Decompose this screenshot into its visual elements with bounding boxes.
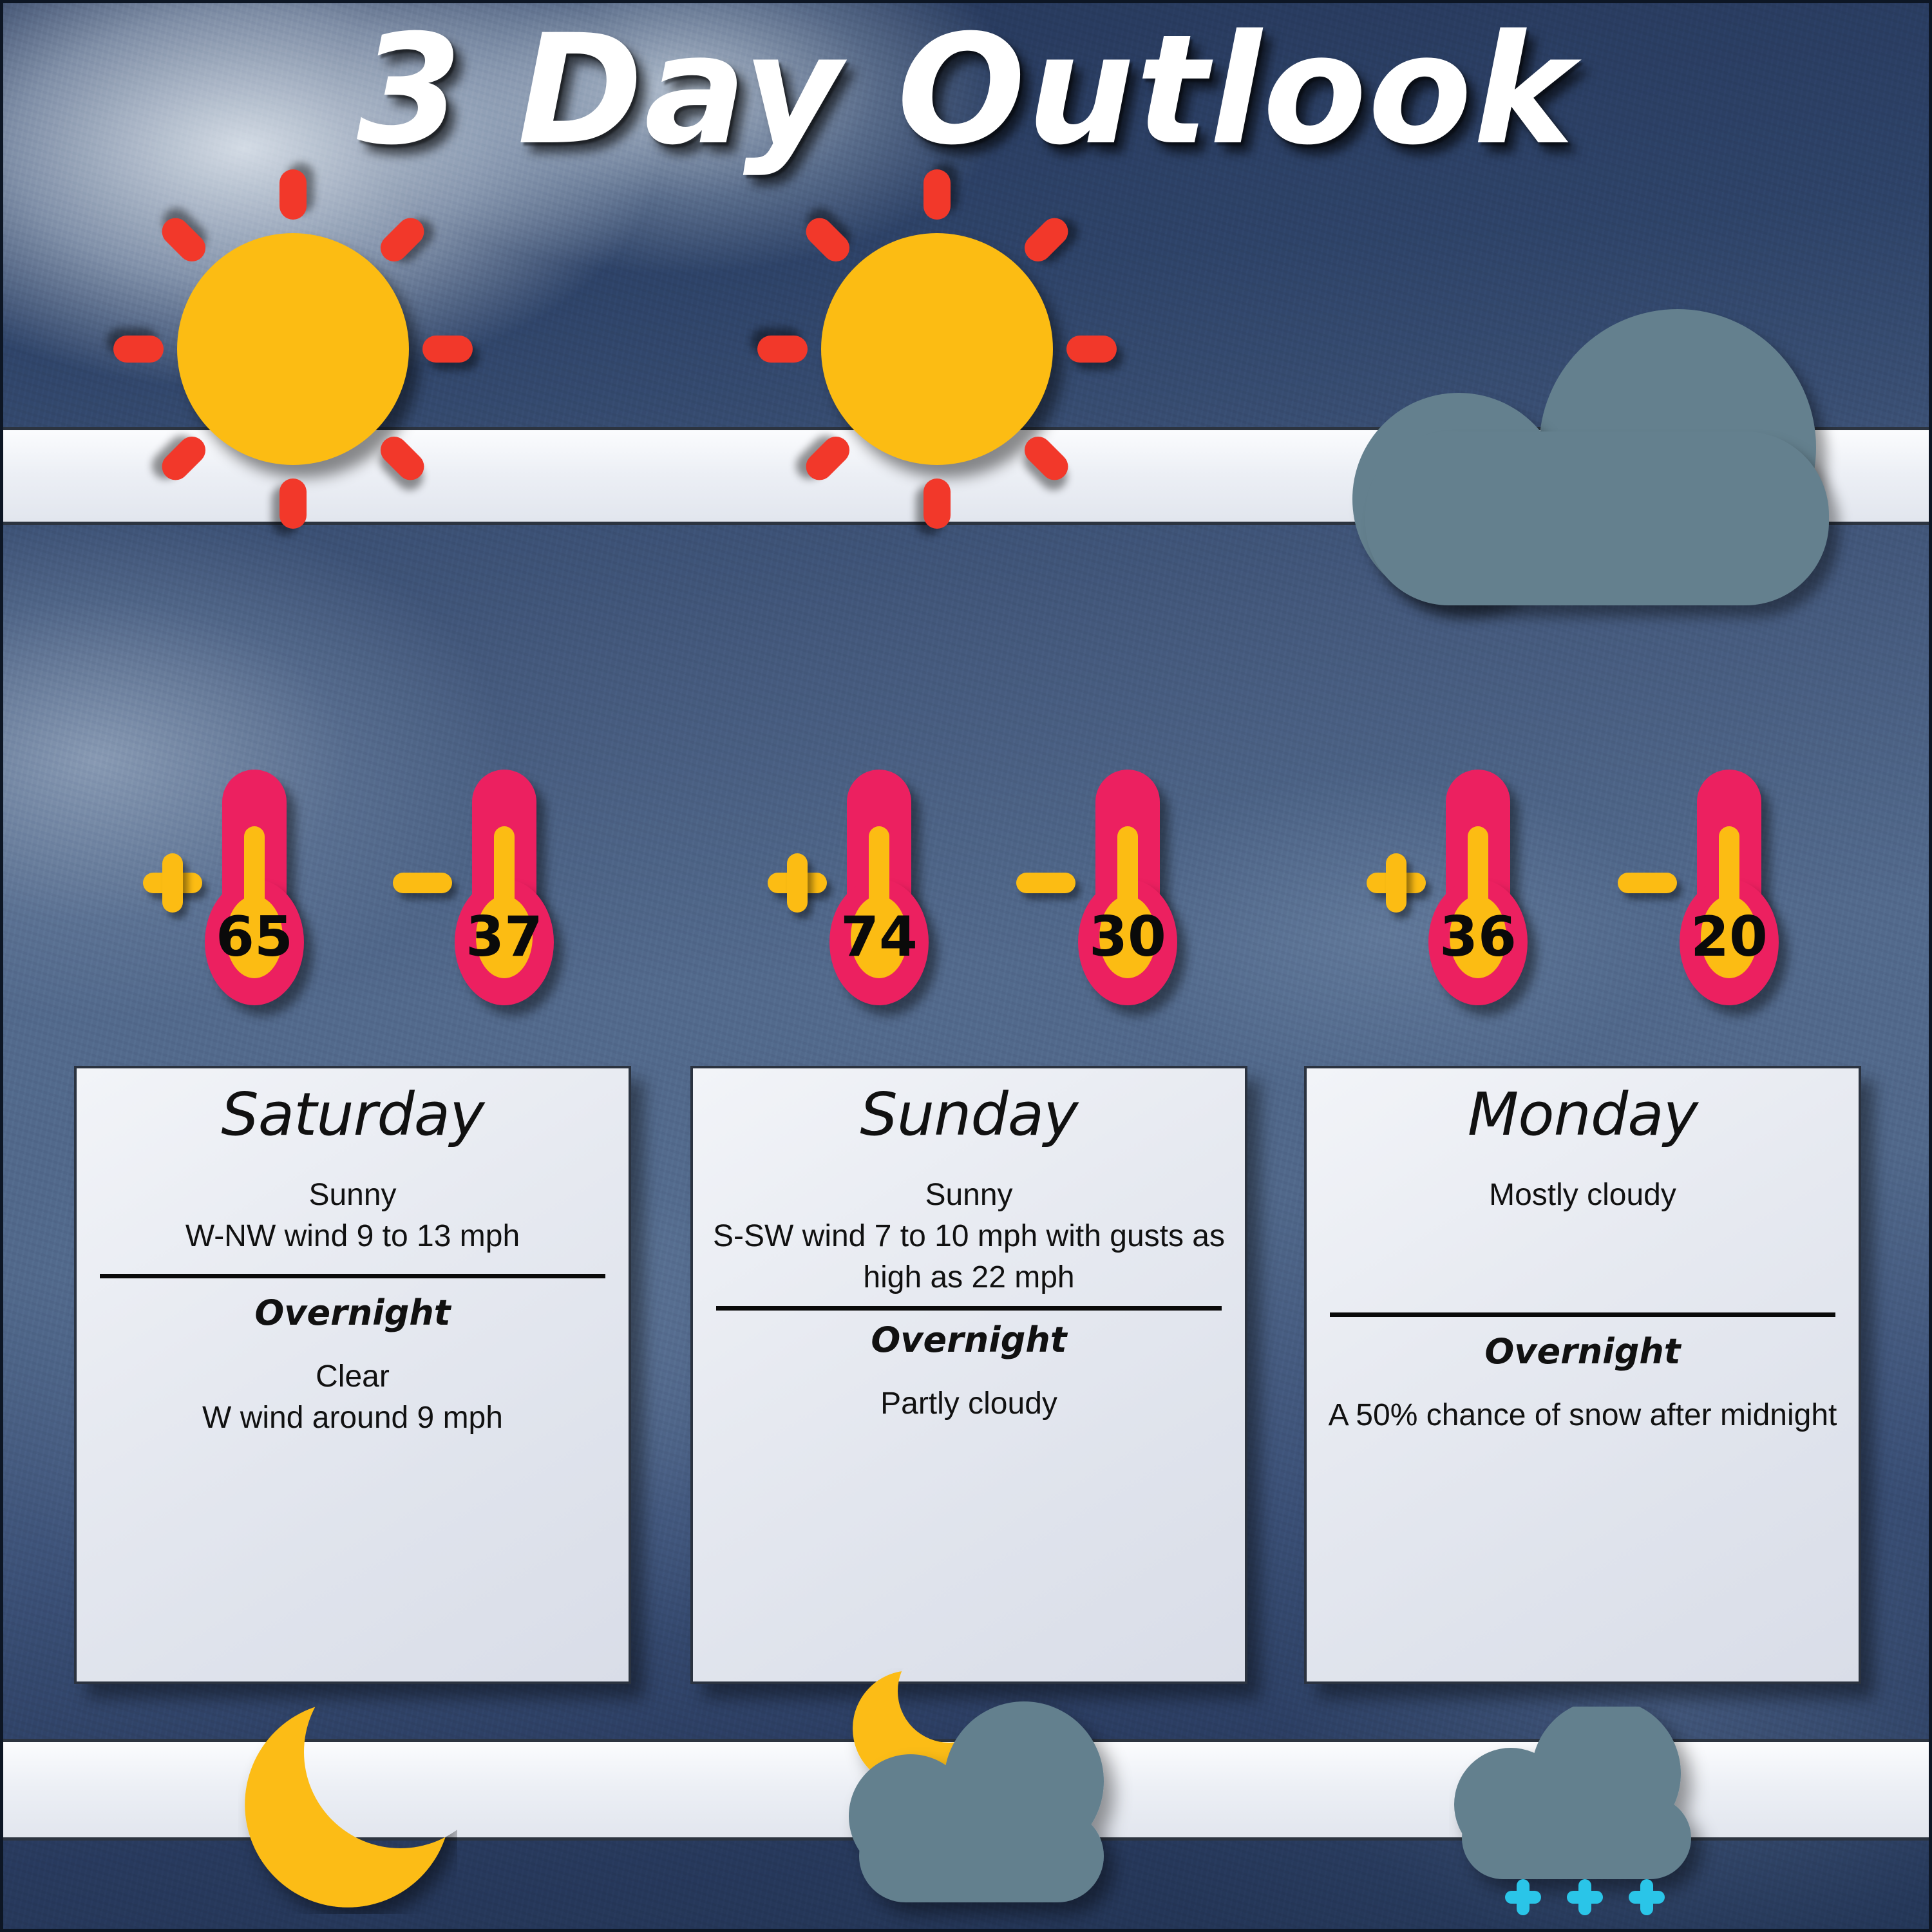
sun-ray — [156, 431, 211, 486]
sun-ray — [757, 336, 808, 363]
cloud-icon — [1327, 309, 1868, 631]
overnight-desc-line1: Partly cloudy — [712, 1383, 1226, 1425]
moon-crescent-shape — [238, 1695, 457, 1914]
low-temp-value: 20 — [1662, 896, 1797, 978]
forecast-card-saturday[interactable]: Saturday Sunny W-NW wind 9 to 13 mph Ove… — [74, 1066, 631, 1684]
weather-outlook-graphic: 3 Day Outlook 65 — [0, 0, 1932, 1932]
card-divider — [100, 1274, 605, 1278]
sun-ray — [923, 169, 951, 220]
card-divider — [1330, 1312, 1835, 1317]
day-desc-line1: Sunny — [96, 1175, 609, 1216]
sun-ray — [422, 336, 473, 363]
forecast-card-monday[interactable]: Monday Mostly cloudy Overnight A 50% cha… — [1304, 1066, 1861, 1684]
overnight-desc-line1: A 50% chance of snow after midnight — [1326, 1395, 1839, 1436]
moon-cloud-shape — [831, 1668, 1172, 1932]
snowflake-icon — [1567, 1879, 1603, 1915]
sun-ray — [1019, 431, 1074, 486]
sun-ray — [1019, 213, 1074, 267]
sun-ray — [113, 336, 164, 363]
day-name: Sunday — [712, 1080, 1226, 1150]
high-temp-value: 65 — [187, 896, 322, 978]
forecast-card-sunday[interactable]: Sunday Sunny S-SW wind 7 to 10 mph with … — [690, 1066, 1247, 1684]
overnight-label: Overnight — [96, 1293, 609, 1334]
sun-ray — [1066, 336, 1117, 363]
overnight-desc-line1: Clear — [96, 1356, 609, 1397]
card-divider — [716, 1306, 1222, 1311]
high-temp-value: 36 — [1410, 896, 1546, 978]
page-title: 3 Day Outlook — [0, 12, 1932, 171]
sun-ray — [923, 478, 951, 529]
sun-icon — [119, 175, 467, 523]
day-name: Saturday — [96, 1080, 609, 1150]
snowflake-icon — [1505, 1879, 1541, 1915]
sun-disc — [177, 233, 409, 465]
thermometer-low: 20 — [1662, 770, 1797, 1021]
sun-ray — [800, 213, 855, 267]
overnight-label: Overnight — [712, 1320, 1226, 1361]
overnight-desc-line2: W wind around 9 mph — [96, 1397, 609, 1439]
day-desc-line2: W-NW wind 9 to 13 mph — [96, 1216, 609, 1257]
thermometer-high: 74 — [811, 770, 947, 1021]
low-temp-value: 30 — [1060, 896, 1195, 978]
sun-ray — [375, 213, 430, 267]
moon-icon — [238, 1695, 457, 1914]
day-desc-line1: Mostly cloudy — [1326, 1175, 1839, 1216]
sun-ray — [800, 431, 855, 486]
thermometer-low: 30 — [1060, 770, 1195, 1021]
low-temp-value: 37 — [437, 896, 572, 978]
sun-ray — [375, 431, 430, 486]
cloud-base — [1365, 431, 1829, 605]
moon-behind-cloud-icon — [831, 1668, 1172, 1932]
sun-icon — [763, 175, 1111, 523]
overnight-label: Overnight — [1326, 1331, 1839, 1373]
day-desc-line1: Sunny — [712, 1175, 1226, 1216]
thermometer-high: 36 — [1410, 770, 1546, 1021]
day-name: Monday — [1326, 1080, 1839, 1150]
thermometer-low: 37 — [437, 770, 572, 1021]
sun-ray — [279, 169, 307, 220]
thermometer-high: 65 — [187, 770, 322, 1021]
sun-ray — [279, 478, 307, 529]
day-desc-line2: S-SW wind 7 to 10 mph with gusts as high… — [712, 1216, 1226, 1299]
sun-disc — [821, 233, 1053, 465]
sun-ray — [156, 213, 211, 267]
snowflake-icon — [1629, 1879, 1665, 1915]
high-temp-value: 74 — [811, 896, 947, 978]
